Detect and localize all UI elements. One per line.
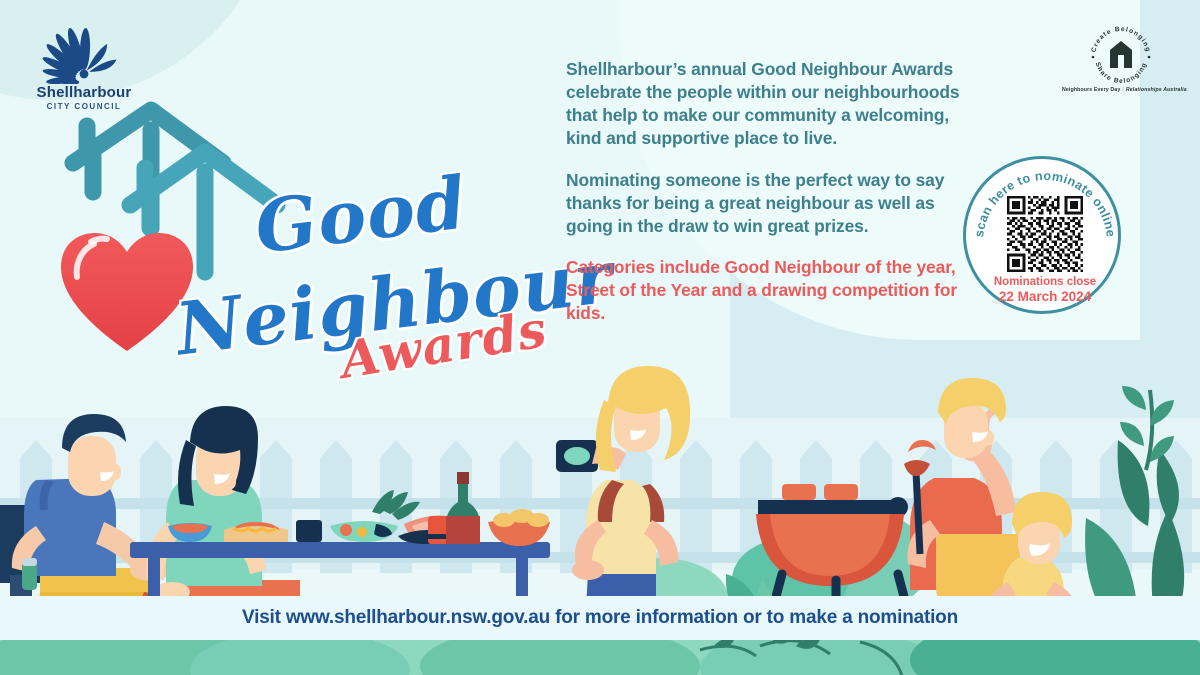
svg-text:Share Belonging: Share Belonging bbox=[1094, 61, 1149, 85]
partner-logo: Create Belonging Share Belonging Neighbo… bbox=[1062, 24, 1180, 104]
qr-nominate-badge[interactable]: scan here to nominate online bbox=[963, 156, 1121, 314]
poster-canvas: Shellharbour CITY COUNCIL Create Belongi… bbox=[0, 0, 1200, 675]
copy-paragraph-1: Shellharbour’s annual Good Neighbour Awa… bbox=[566, 58, 966, 151]
council-logo-name: Shellharbour bbox=[28, 84, 140, 101]
qr-close-date: 22 March 2024 bbox=[966, 289, 1124, 304]
neighbours-every-day-icon: Create Belonging Share Belonging bbox=[1062, 24, 1180, 86]
qr-close-label: Nominations close bbox=[966, 276, 1124, 288]
shell-fan-icon bbox=[28, 28, 140, 84]
bottom-banner: Visit www.shellharbour.nsw.gov.au for mo… bbox=[0, 596, 1200, 640]
copy-block: Shellharbour’s annual Good Neighbour Awa… bbox=[566, 58, 966, 325]
banner-text: Visit www.shellharbour.nsw.gov.au for mo… bbox=[242, 607, 958, 629]
partner-logo-tagline: Neighbours Every Day|Relationships Austr… bbox=[1062, 87, 1180, 93]
copy-paragraph-2: Nominating someone is the perfect way to… bbox=[566, 169, 966, 238]
partner-tagline-text: Neighbours Every Day bbox=[1062, 87, 1120, 93]
partner-org-name: Relationships Australia bbox=[1126, 87, 1187, 93]
copy-paragraph-categories: Categories include Good Neighbour of the… bbox=[566, 256, 966, 325]
qr-code-icon[interactable] bbox=[1007, 196, 1083, 272]
